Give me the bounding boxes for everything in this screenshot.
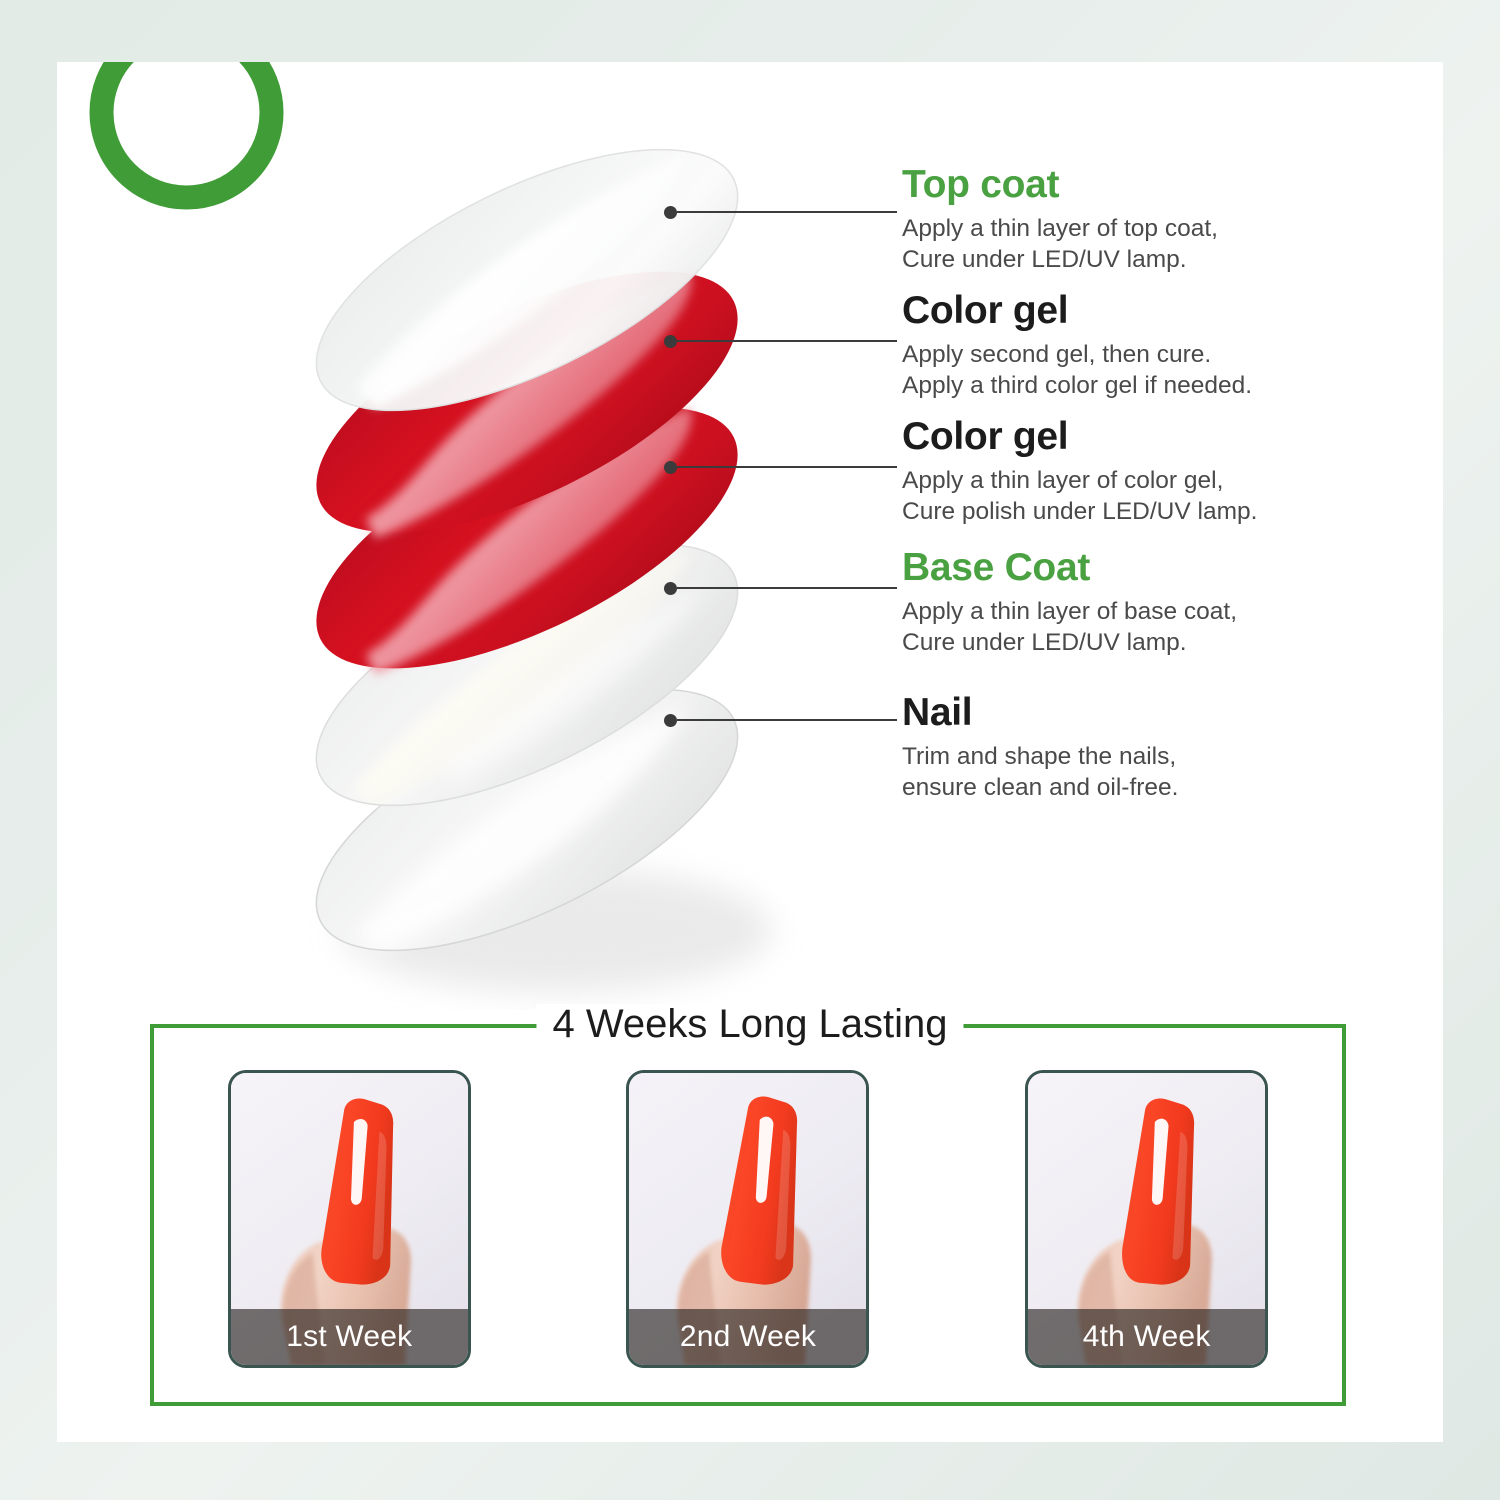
layer-title: Color gel xyxy=(902,291,1252,332)
layer-desc-line-1: Apply second gel, then cure. xyxy=(902,341,1211,368)
long-lasting-heading: 4 Weeks Long Lasting xyxy=(536,1004,963,1044)
layer-label-top-coat: Top coat Apply a thin layer of top coat,… xyxy=(902,165,1218,276)
layer-desc-line-2: Apply a third color gel if needed. xyxy=(902,372,1252,399)
layer-label-base-coat: Base Coat Apply a thin layer of base coa… xyxy=(902,548,1237,659)
layer-description: Apply a thin layer of color gel, Cure po… xyxy=(902,465,1257,528)
layer-description: Apply a thin layer of base coat, Cure un… xyxy=(902,596,1237,659)
layer-description: Apply a thin layer of top coat, Cure und… xyxy=(902,213,1218,276)
layer-desc-line-2: Cure under LED/UV lamp. xyxy=(902,246,1187,273)
layer-desc-line-1: Trim and shape the nails, xyxy=(902,743,1176,770)
nail-layer-stack-illustration xyxy=(227,130,847,1010)
layer-title: Base Coat xyxy=(902,548,1237,589)
layer-title: Color gel xyxy=(902,417,1257,458)
layer-desc-line-1: Apply a thin layer of color gel, xyxy=(902,467,1223,494)
week-card-1st[interactable]: 1st Week xyxy=(228,1070,471,1368)
layer-title: Nail xyxy=(902,693,1178,734)
layer-title: Top coat xyxy=(902,165,1218,206)
week-cards-row: 1st Week xyxy=(150,1070,1346,1370)
layer-description: Apply second gel, then cure. Apply a thi… xyxy=(902,339,1252,402)
layer-desc-line-2: ensure clean and oil-free. xyxy=(902,774,1178,801)
week-card-label: 2nd Week xyxy=(629,1309,866,1365)
layer-desc-line-2: Cure polish under LED/UV lamp. xyxy=(902,498,1257,525)
layer-description: Trim and shape the nails, ensure clean a… xyxy=(902,741,1178,804)
week-card-label: 4th Week xyxy=(1028,1309,1265,1365)
week-card-4th[interactable]: 4th Week xyxy=(1025,1070,1268,1368)
layer-desc-line-1: Apply a thin layer of top coat, xyxy=(902,215,1218,242)
product-infographic-card: Top coat Apply a thin layer of top coat,… xyxy=(57,62,1443,1442)
layer-desc-line-1: Apply a thin layer of base coat, xyxy=(902,598,1237,625)
layer-label-color-gel-2: Color gel Apply second gel, then cure. A… xyxy=(902,291,1252,402)
week-card-label: 1st Week xyxy=(231,1309,468,1365)
layer-label-color-gel-1: Color gel Apply a thin layer of color ge… xyxy=(902,417,1257,528)
layer-label-nail: Nail Trim and shape the nails, ensure cl… xyxy=(902,693,1178,804)
layer-desc-line-2: Cure under LED/UV lamp. xyxy=(902,629,1187,656)
week-card-2nd[interactable]: 2nd Week xyxy=(626,1070,869,1368)
